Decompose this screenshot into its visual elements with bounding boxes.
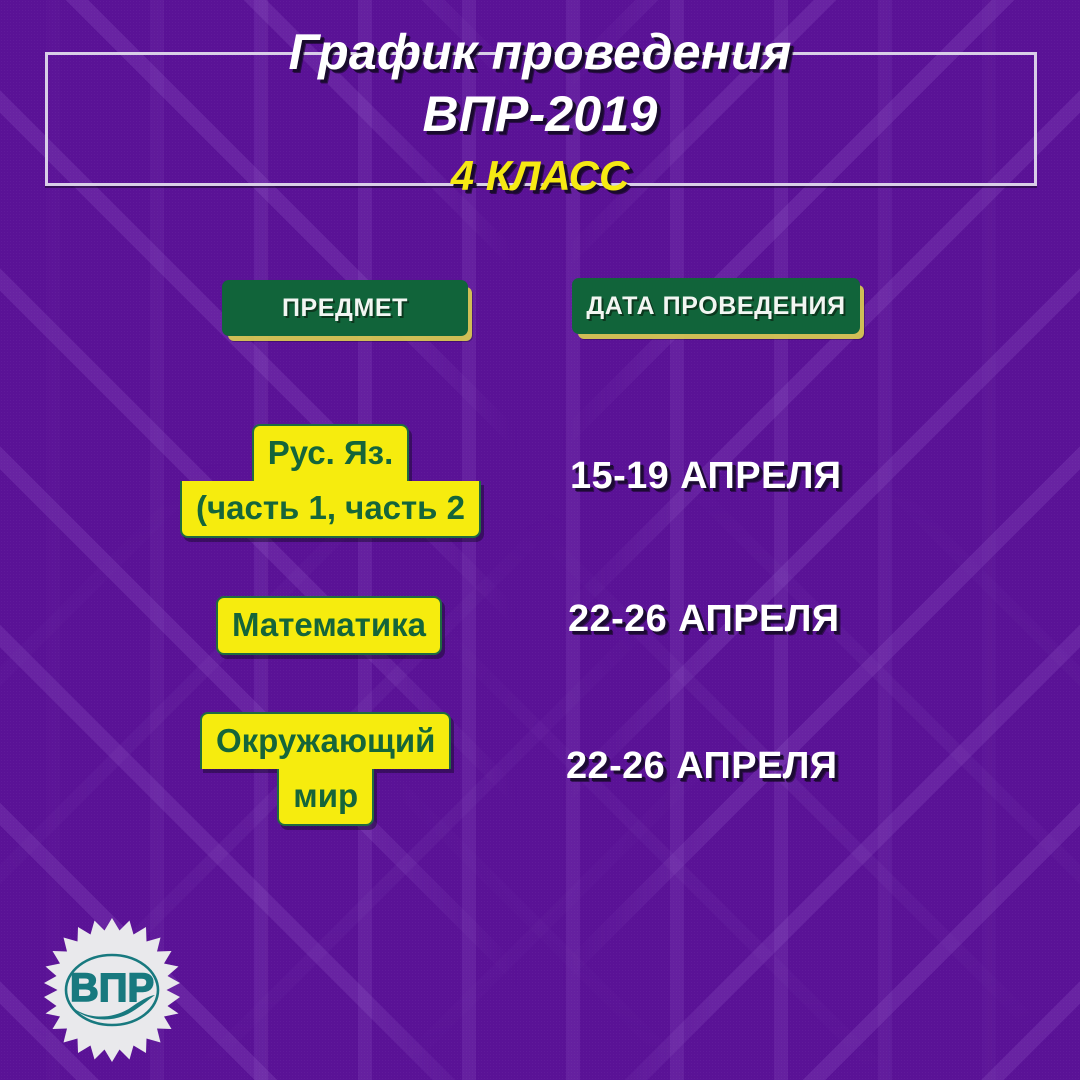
subject-line: мир — [277, 769, 374, 826]
column-header-subject: ПРЕДМЕТ — [222, 280, 468, 336]
column-header-subject-label: ПРЕДМЕТ — [282, 294, 408, 323]
table-row-subject-math: Математика — [216, 596, 442, 655]
subject-line: (часть 1, часть 2 — [180, 481, 481, 538]
column-header-date: ДАТА ПРОВЕДЕНИЯ — [572, 278, 860, 334]
subject-line: Окружающий — [200, 712, 451, 769]
table-row-subject-environment: Окружающий мир — [200, 712, 451, 826]
table-row-date-math: 22-26 АПРЕЛЯ — [568, 598, 839, 641]
subject-line: Математика — [216, 596, 442, 655]
subject-line: Рус. Яз. — [252, 424, 410, 481]
table-row-date-russian: 15-19 АПРЕЛЯ — [570, 455, 841, 498]
table-row-date-environment: 22-26 АПРЕЛЯ — [566, 745, 837, 788]
logo-text: ВПР — [70, 966, 154, 1010]
column-header-date-label: ДАТА ПРОВЕДЕНИЯ — [586, 292, 845, 321]
poster-canvas: График проведения ВПР-2019 4 КЛАСС ПРЕДМ… — [0, 0, 1080, 1080]
vpr-logo: ВПР — [38, 916, 186, 1064]
table-row-subject-russian: Рус. Яз. (часть 1, часть 2 — [180, 424, 481, 538]
